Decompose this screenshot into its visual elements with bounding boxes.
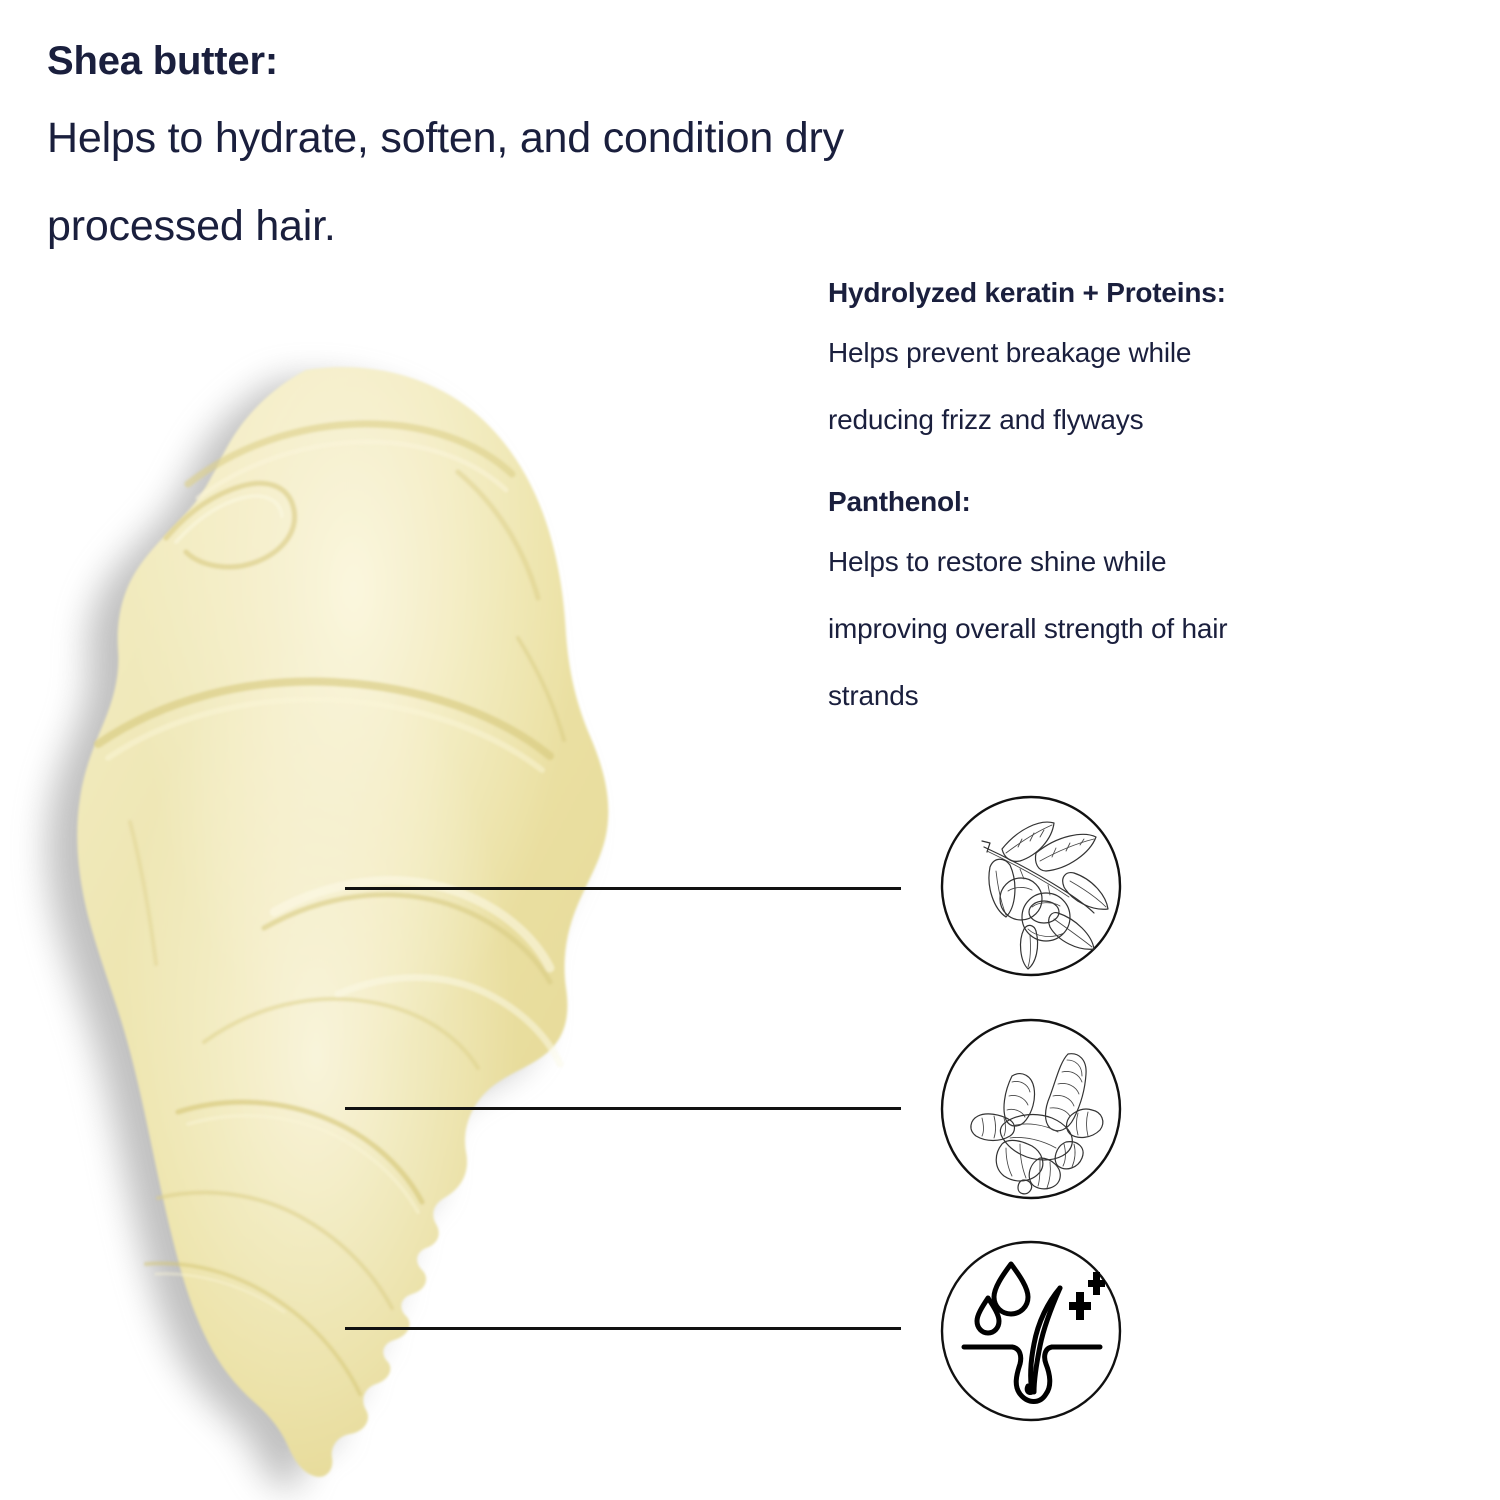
keratin-body-line-1: Helps prevent breakage while [828, 319, 1448, 386]
ginger-root-icon [940, 1018, 1122, 1200]
connector-line-1 [345, 887, 901, 890]
shea-butter-body-line-2: processed hair. [47, 182, 1167, 270]
shea-butter-swatch [38, 352, 658, 1492]
panthenol-body-line-2: improving overall strength of hair [828, 595, 1448, 662]
ingredient-text-column: Hydrolyzed keratin + Proteins: Helps pre… [828, 266, 1448, 729]
ginger-root-illustration [940, 1018, 1122, 1200]
panthenol-body-line-1: Helps to restore shine while [828, 528, 1448, 595]
hair-follicle-icon [940, 1240, 1122, 1422]
infographic-page: Shea butter: Helps to hydrate, soften, a… [0, 0, 1500, 1500]
keratin-heading: Hydrolyzed keratin + Proteins: [828, 266, 1448, 319]
olive-branch-art [982, 822, 1108, 969]
ginger-root-art [971, 1054, 1103, 1194]
olive-branch-illustration [940, 795, 1122, 977]
shea-butter-body-line-1: Helps to hydrate, soften, and condition … [47, 94, 1167, 182]
hair-follicle-art [964, 1264, 1105, 1402]
hair-follicle-illustration [940, 1240, 1122, 1422]
shea-butter-text-block: Shea butter: Helps to hydrate, soften, a… [47, 28, 1167, 270]
swatch-illustration [38, 352, 658, 1492]
keratin-body-line-2: reducing frizz and flyways [828, 386, 1448, 453]
olive-branch-icon [940, 795, 1122, 977]
connector-line-3 [345, 1327, 901, 1330]
text-group-spacer [828, 453, 1448, 475]
panthenol-heading: Panthenol: [828, 475, 1448, 528]
panthenol-body-line-3: strands [828, 662, 1448, 729]
connector-line-2 [345, 1107, 901, 1110]
shea-butter-heading: Shea butter: [47, 28, 1167, 94]
